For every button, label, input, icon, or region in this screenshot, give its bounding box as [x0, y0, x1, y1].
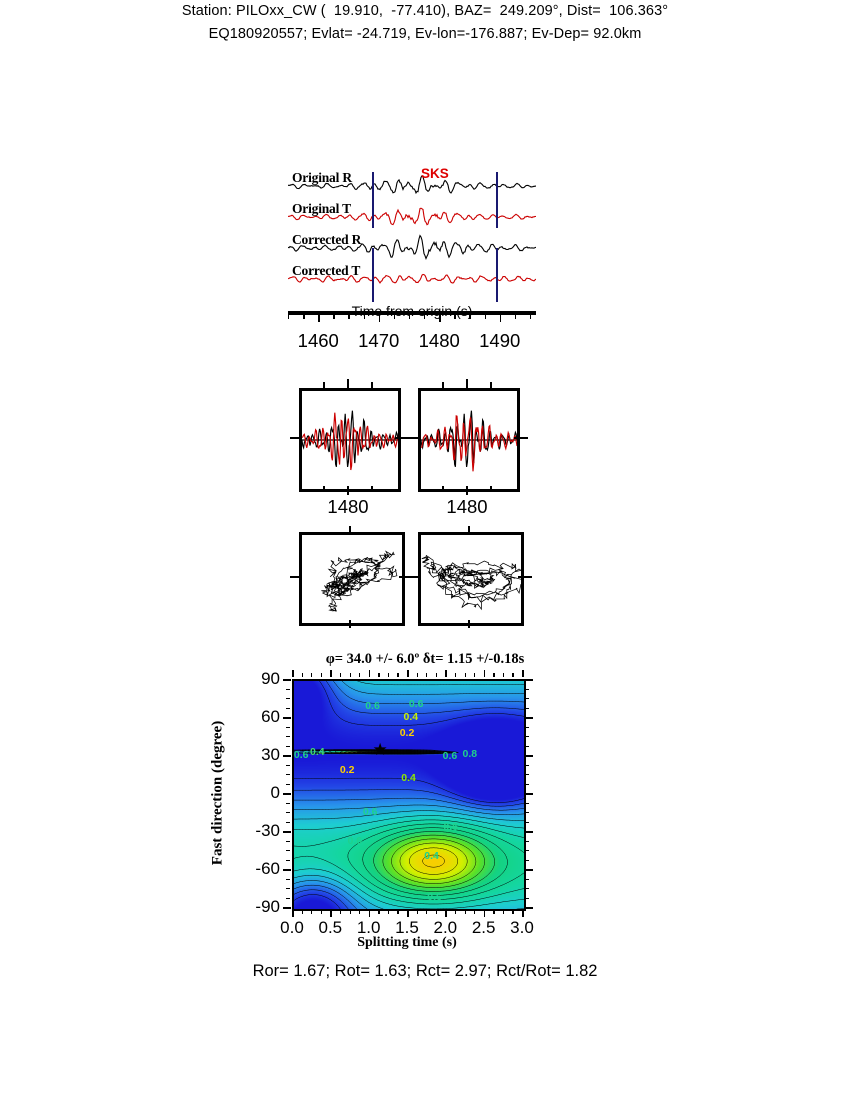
- contour-x-minor-tick: [321, 673, 322, 677]
- time-tick-label: 1490: [479, 330, 520, 352]
- contour-y-tick: [283, 831, 291, 833]
- trace-label-original-r: Original R: [292, 170, 352, 186]
- time-minor-tick: [348, 315, 349, 319]
- contour-y-tick: [283, 717, 291, 719]
- contour-y-tick: [283, 679, 291, 681]
- contour-y-minor-tick: [286, 793, 290, 794]
- fast-slow-tick-label-2: 1480: [446, 496, 487, 518]
- time-minor-tick: [288, 315, 289, 319]
- tick-bot-2a: [442, 486, 444, 492]
- contour-y-tick-right: [525, 755, 533, 757]
- time-tick-label: 1470: [358, 330, 399, 352]
- contour-y-minor-tick: [286, 822, 290, 823]
- contour-x-tick: [330, 910, 332, 917]
- header-event-line: EQ180920557; Evlat= -24.719, Ev-lon=-176…: [0, 23, 850, 46]
- contour-x-tick-top: [292, 670, 294, 677]
- contour-y-tick-right: [525, 907, 533, 909]
- time-minor-tick: [469, 315, 470, 319]
- phase-marker-line-left-bottom: [372, 248, 374, 302]
- contour-x-minor-tick: [330, 673, 331, 677]
- pm-crosshair-left-1: [290, 576, 302, 578]
- contour-x-minor-tick: [292, 673, 293, 677]
- contour-x-minor-tick: [436, 673, 437, 677]
- contour-y-minor-tick: [286, 717, 290, 718]
- contour-x-tick: [445, 910, 447, 917]
- contour-x-minor-tick: [359, 673, 360, 677]
- time-minor-tick: [515, 315, 516, 319]
- contour-x-minor-tick: [493, 673, 494, 677]
- time-axis-tick-labels: 1460147014801490: [268, 330, 558, 354]
- time-tick-label: 1480: [419, 330, 460, 352]
- tick-top-1c: [371, 382, 373, 388]
- pm-tick-bot-2: [468, 620, 470, 628]
- contour-y-minor-tick: [286, 841, 290, 842]
- contour-x-minor-tick: [484, 673, 485, 677]
- pm-crosshair-left-2: [409, 576, 420, 578]
- contour-y-minor-tick: [286, 784, 290, 785]
- contour-y-tick: [283, 907, 291, 909]
- contour-x-minor-tick: [369, 673, 370, 677]
- time-minor-tick: [530, 315, 531, 319]
- tick-bot-2b: [466, 486, 468, 495]
- crosshair-left-1: [290, 437, 302, 439]
- contour-x-minor-tick: [407, 673, 408, 677]
- energy-grid-search-contour-plot[interactable]: [292, 679, 526, 911]
- tick-top-1a: [323, 382, 325, 388]
- time-minor-tick: [424, 315, 425, 319]
- contour-y-tick-label: -30: [242, 821, 280, 841]
- contour-x-tick: [522, 910, 524, 917]
- contour-y-minor-tick: [286, 860, 290, 861]
- tick-bot-1b: [347, 486, 349, 495]
- contour-y-minor-tick: [286, 774, 290, 775]
- pm-tick-top-1: [349, 526, 351, 534]
- contour-x-minor-tick: [311, 673, 312, 677]
- waveform-label-overlay: Original R Original T Corrected R Correc…: [288, 168, 536, 308]
- contour-x-minor-tick: [465, 673, 466, 677]
- contour-x-minor-tick: [512, 673, 513, 677]
- contour-y-minor-tick: [286, 755, 290, 756]
- contour-y-tick-label: 60: [242, 707, 280, 727]
- contour-y-tick-label: 90: [242, 669, 280, 689]
- sks-phase-label: SKS: [421, 166, 449, 181]
- contour-y-minor-tick: [286, 869, 290, 870]
- contour-y-minor-tick: [286, 708, 290, 709]
- pm-crosshair-right-2: [518, 576, 532, 578]
- time-minor-tick: [485, 315, 486, 319]
- contour-x-minor-tick: [302, 673, 303, 677]
- time-minor-tick: [394, 315, 395, 319]
- footer-statistics: Ror= 1.67; Rot= 1.63; Rct= 2.97; Rct/Rot…: [0, 962, 850, 981]
- crosshair-right-2: [514, 437, 528, 439]
- contour-x-minor-tick: [417, 673, 418, 677]
- tick-top-1b: [347, 379, 349, 388]
- contour-y-tick-label: 0: [242, 783, 280, 803]
- contour-y-tick-label: 30: [242, 745, 280, 765]
- contour-y-minor-tick: [286, 812, 290, 813]
- contour-y-minor-tick: [286, 698, 290, 699]
- contour-y-minor-tick: [286, 879, 290, 880]
- contour-x-minor-tick: [522, 673, 523, 677]
- contour-x-tick: [407, 910, 409, 917]
- time-major-tick: [439, 315, 441, 322]
- time-tick-label: 1460: [298, 330, 339, 352]
- contour-y-minor-tick: [286, 746, 290, 747]
- contour-y-tick-right: [525, 679, 533, 681]
- contour-y-minor-tick: [286, 803, 290, 804]
- contour-x-tick-top: [407, 670, 409, 677]
- pm-tick-top-2: [468, 526, 470, 534]
- fast-slow-tick-label-1: 1480: [327, 496, 368, 518]
- time-minor-tick: [364, 315, 365, 319]
- time-major-tick: [500, 315, 502, 322]
- contour-x-minor-tick: [445, 673, 446, 677]
- contour-y-axis-title: Fast direction (degree): [210, 721, 227, 865]
- contour-y-tick: [283, 869, 291, 871]
- contour-y-minor-tick: [286, 888, 290, 889]
- trace-label-original-t: Original T: [292, 201, 351, 217]
- contour-y-minor-tick: [286, 907, 290, 908]
- contour-x-minor-tick: [340, 673, 341, 677]
- trace-label-corrected-r: Corrected R: [292, 232, 361, 248]
- tick-top-2c: [490, 382, 492, 388]
- header-station-line: Station: PILOxx_CW ( 19.910, -77.410), B…: [0, 0, 850, 23]
- contour-y-tick: [283, 755, 291, 757]
- contour-x-tick-top: [484, 670, 486, 677]
- contour-x-tick: [292, 910, 294, 917]
- contour-y-tick-label: -60: [242, 859, 280, 879]
- contour-x-minor-tick: [455, 673, 456, 677]
- contour-y-tick-right: [525, 717, 533, 719]
- contour-x-minor-tick: [378, 673, 379, 677]
- tick-bot-1c: [371, 486, 373, 492]
- time-major-tick: [379, 315, 381, 322]
- contour-y-tick: [283, 793, 291, 795]
- contour-y-minor-tick: [286, 679, 290, 680]
- figure-header: Station: PILOxx_CW ( 19.910, -77.410), B…: [0, 0, 850, 46]
- phase-marker-line-left-top: [372, 172, 374, 228]
- tick-bot-1a: [323, 486, 325, 492]
- contour-x-minor-tick: [397, 673, 398, 677]
- fast-slow-box-decorations: [290, 376, 530, 506]
- contour-x-axis-title: Splitting time (s): [292, 935, 522, 951]
- contour-y-tick-right: [525, 869, 533, 871]
- tick-top-2a: [442, 382, 444, 388]
- contour-y-minor-tick: [286, 727, 290, 728]
- time-minor-tick: [303, 315, 304, 319]
- contour-y-minor-tick: [286, 736, 290, 737]
- phase-marker-line-right-bottom: [496, 248, 498, 302]
- tick-bot-2c: [490, 486, 492, 492]
- contour-y-minor-tick: [286, 898, 290, 899]
- contour-x-tick-top: [522, 670, 524, 677]
- contour-y-minor-tick: [286, 765, 290, 766]
- time-axis: [288, 311, 536, 315]
- contour-x-tick: [369, 910, 371, 917]
- phase-marker-line-right-top: [496, 172, 498, 228]
- contour-x-tick-top: [369, 670, 371, 677]
- time-minor-tick: [454, 315, 455, 319]
- contour-y-minor-tick: [286, 831, 290, 832]
- contour-lines: [294, 681, 524, 909]
- pm-tick-bot-1: [349, 620, 351, 628]
- time-minor-tick: [409, 315, 410, 319]
- contour-x-minor-tick: [350, 673, 351, 677]
- time-major-tick: [318, 315, 320, 322]
- trace-label-corrected-t: Corrected T: [292, 263, 360, 279]
- contour-y-tick-right: [525, 831, 533, 833]
- contour-y-tick-right: [525, 793, 533, 795]
- crosshair-right-1: [395, 437, 409, 439]
- contour-x-tick: [484, 910, 486, 917]
- time-minor-tick: [333, 315, 334, 319]
- contour-x-tick-top: [330, 670, 332, 677]
- contour-x-minor-tick: [426, 673, 427, 677]
- contour-y-tick-label: -90: [242, 897, 280, 917]
- tick-top-2b: [466, 379, 468, 388]
- particle-box-decorations: [290, 520, 530, 640]
- contour-y-minor-tick: [286, 850, 290, 851]
- contour-plot-title: φ= 34.0 +/- 6.0º δt= 1.15 +/-0.18s: [0, 651, 850, 668]
- contour-x-minor-tick: [474, 673, 475, 677]
- crosshair-left-2: [409, 437, 420, 439]
- contour-x-tick-top: [445, 670, 447, 677]
- contour-x-minor-tick: [503, 673, 504, 677]
- contour-y-minor-tick: [286, 689, 290, 690]
- contour-x-minor-tick: [388, 673, 389, 677]
